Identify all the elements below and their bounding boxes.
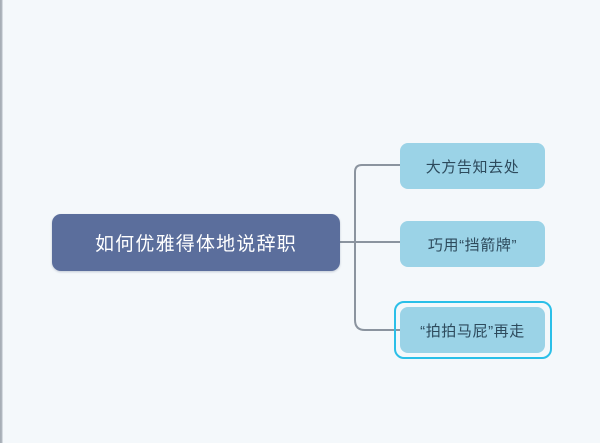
mindmap-root-node[interactable]: 如何优雅得体地说辞职 <box>52 214 340 271</box>
connector-branch-1 <box>355 165 400 172</box>
mindmap-canvas[interactable]: 如何优雅得体地说辞职 大方告知去处 巧用“挡箭牌” “拍拍马屁”再走 <box>0 0 600 443</box>
connector-branch-3 <box>355 320 400 330</box>
mindmap-child-node-2[interactable]: 巧用“挡箭牌” <box>400 221 545 267</box>
mindmap-child-node-1[interactable]: 大方告知去处 <box>400 143 545 189</box>
mindmap-child-node-3[interactable]: “拍拍马屁”再走 <box>400 307 545 353</box>
